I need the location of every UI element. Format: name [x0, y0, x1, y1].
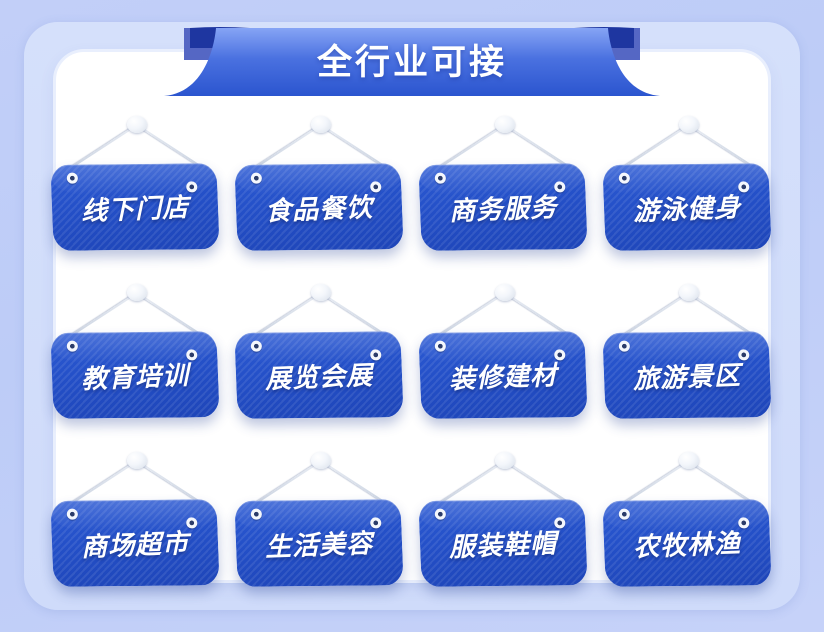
- banner-ribbon-shape: [0, 0, 824, 110]
- hook-knob-icon: [311, 452, 331, 469]
- industry-tag[interactable]: 教育培训: [50, 331, 219, 419]
- industry-tag-label: 商场超市: [80, 522, 189, 563]
- industry-tag-item[interactable]: 展览会展: [232, 280, 410, 430]
- hook-knob-icon: [495, 116, 515, 133]
- hook-knob-icon: [495, 452, 515, 469]
- industry-tag[interactable]: 商场超市: [50, 499, 219, 587]
- industry-tag[interactable]: 展览会展: [234, 331, 403, 419]
- grommet-icon: [619, 341, 630, 352]
- industry-tag-item[interactable]: 服装鞋帽: [416, 448, 594, 598]
- industry-tag[interactable]: 服装鞋帽: [418, 499, 587, 587]
- grommet-icon: [619, 173, 630, 184]
- hook-knob-icon: [127, 116, 147, 133]
- industry-tag-item[interactable]: 装修建材: [416, 280, 594, 430]
- industry-tag-item[interactable]: 食品餐饮: [232, 112, 410, 262]
- hook-knob-icon: [679, 452, 699, 469]
- hook-knob-icon: [127, 284, 147, 301]
- industry-tag-label: 游泳健身: [632, 186, 741, 227]
- hook-knob-icon: [311, 116, 331, 133]
- industry-coverage-poster: 全行业可接 线下门店 食品餐饮: [0, 0, 824, 632]
- industry-tag-item[interactable]: 游泳健身: [600, 112, 778, 262]
- hook-knob-icon: [311, 284, 331, 301]
- hook-knob-icon: [127, 452, 147, 469]
- grommet-icon: [619, 509, 630, 520]
- industry-tag-label: 服装鞋帽: [448, 522, 557, 563]
- grommet-icon: [435, 173, 446, 184]
- grommet-icon: [67, 509, 78, 520]
- industry-tag-item[interactable]: 农牧林渔: [600, 448, 778, 598]
- industry-tag[interactable]: 线下门店: [50, 163, 219, 251]
- grommet-icon: [435, 509, 446, 520]
- industry-tag[interactable]: 农牧林渔: [602, 499, 771, 587]
- grommet-icon: [67, 173, 78, 184]
- hook-knob-icon: [495, 284, 515, 301]
- grommet-icon: [251, 509, 262, 520]
- industry-tag-item[interactable]: 生活美容: [232, 448, 410, 598]
- industry-tag[interactable]: 商务服务: [418, 163, 587, 251]
- industry-tag-item[interactable]: 线下门店: [48, 112, 226, 262]
- industry-tag-label: 商务服务: [448, 186, 557, 227]
- grommet-icon: [251, 341, 262, 352]
- industry-tag-label: 装修建材: [448, 354, 557, 395]
- industry-tag-item[interactable]: 旅游景区: [600, 280, 778, 430]
- hook-knob-icon: [679, 116, 699, 133]
- industry-tag-label: 食品餐饮: [264, 186, 373, 227]
- banner: 全行业可接: [0, 0, 824, 110]
- industry-tag-label: 展览会展: [264, 354, 373, 395]
- industry-tag[interactable]: 旅游景区: [602, 331, 771, 419]
- hook-knob-icon: [679, 284, 699, 301]
- industry-tag[interactable]: 食品餐饮: [234, 163, 403, 251]
- industry-tag-label: 线下门店: [80, 186, 189, 227]
- industry-tag[interactable]: 生活美容: [234, 499, 403, 587]
- industry-tag-label: 农牧林渔: [632, 522, 741, 563]
- grommet-icon: [67, 341, 78, 352]
- industry-tag-item[interactable]: 商场超市: [48, 448, 226, 598]
- industry-tag-item[interactable]: 教育培训: [48, 280, 226, 430]
- industry-tag[interactable]: 装修建材: [418, 331, 587, 419]
- industry-tag-item[interactable]: 商务服务: [416, 112, 594, 262]
- industry-tag-label: 生活美容: [264, 522, 373, 563]
- industry-tag-label: 旅游景区: [632, 354, 741, 395]
- grommet-icon: [251, 173, 262, 184]
- industry-tag-label: 教育培训: [80, 354, 189, 395]
- industry-tag-grid: 线下门店 食品餐饮 商务服务: [48, 112, 778, 598]
- industry-tag[interactable]: 游泳健身: [602, 163, 771, 251]
- grommet-icon: [435, 341, 446, 352]
